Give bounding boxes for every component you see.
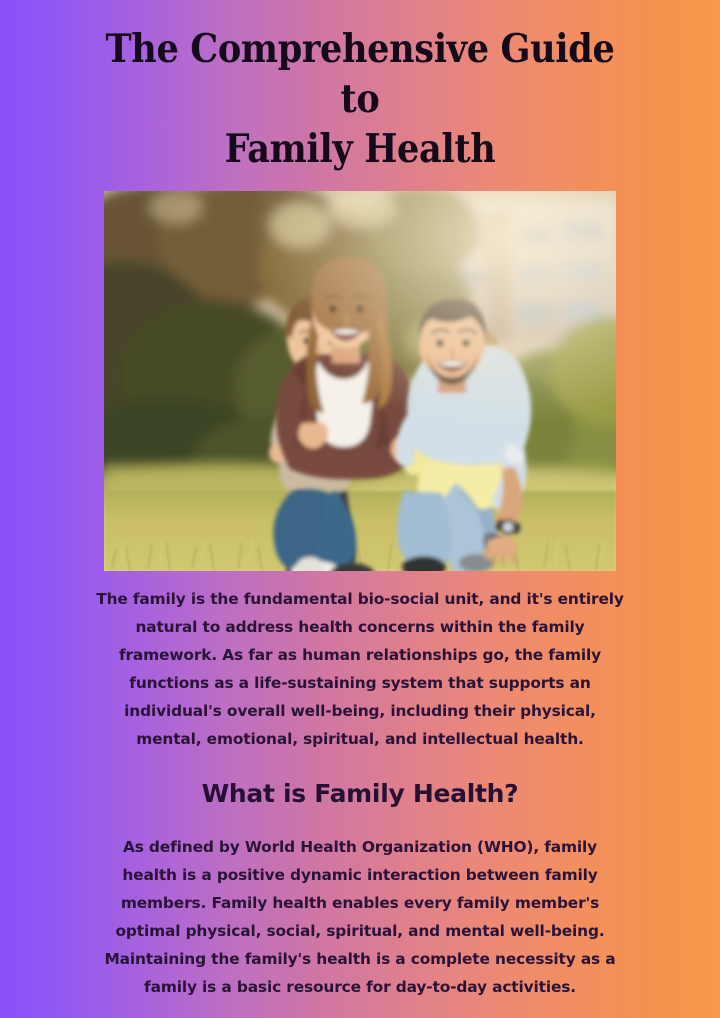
- family-photo: [104, 191, 616, 571]
- article-body: The family is the fundamental bio-social…: [80, 585, 640, 1001]
- page-title: The Comprehensive Guide to Family Health: [81, 24, 639, 174]
- section-heading: What is Family Health?: [80, 779, 640, 809]
- section-paragraph: As defined by World Health Organization …: [80, 833, 640, 1001]
- poster-root: The Comprehensive Guide to Family Health: [0, 0, 720, 1018]
- intro-paragraph: The family is the fundamental bio-social…: [80, 585, 640, 753]
- title-block: The Comprehensive Guide to Family Health: [50, 24, 670, 174]
- family-photo-illustration: [104, 191, 616, 571]
